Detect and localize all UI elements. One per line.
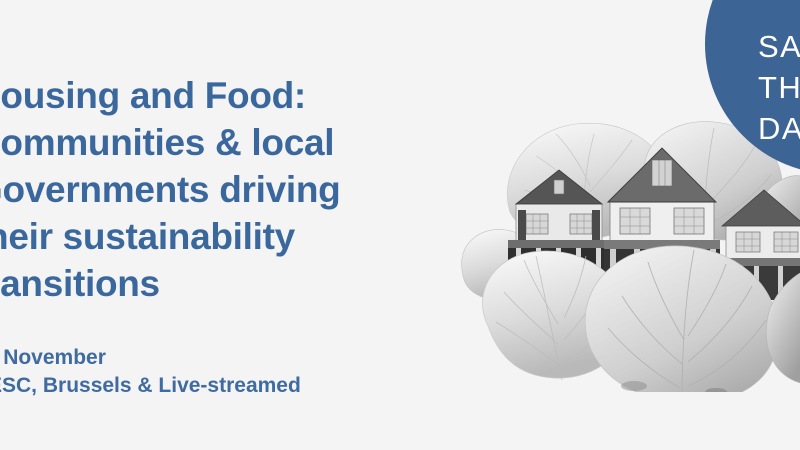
title-line-3: Governments driving bbox=[0, 166, 474, 213]
page-title: Housing and Food: Communities & local Go… bbox=[0, 72, 474, 307]
houses-and-cabbage-collage bbox=[458, 112, 800, 392]
save-the-date-text: SAVE THE DATE bbox=[758, 26, 800, 149]
event-poster: SAVE THE DATE bbox=[0, 0, 800, 450]
partner-logo-strip: ICLEI Local Governments for Sustainabili… bbox=[0, 382, 800, 450]
event-date: 16 November bbox=[0, 344, 301, 372]
title-line-4: their sustainability bbox=[0, 213, 474, 260]
title-line-1: Housing and Food: bbox=[0, 72, 474, 119]
title-line-2: Communities & local bbox=[0, 119, 474, 166]
title-line-5: transitions bbox=[0, 260, 474, 307]
